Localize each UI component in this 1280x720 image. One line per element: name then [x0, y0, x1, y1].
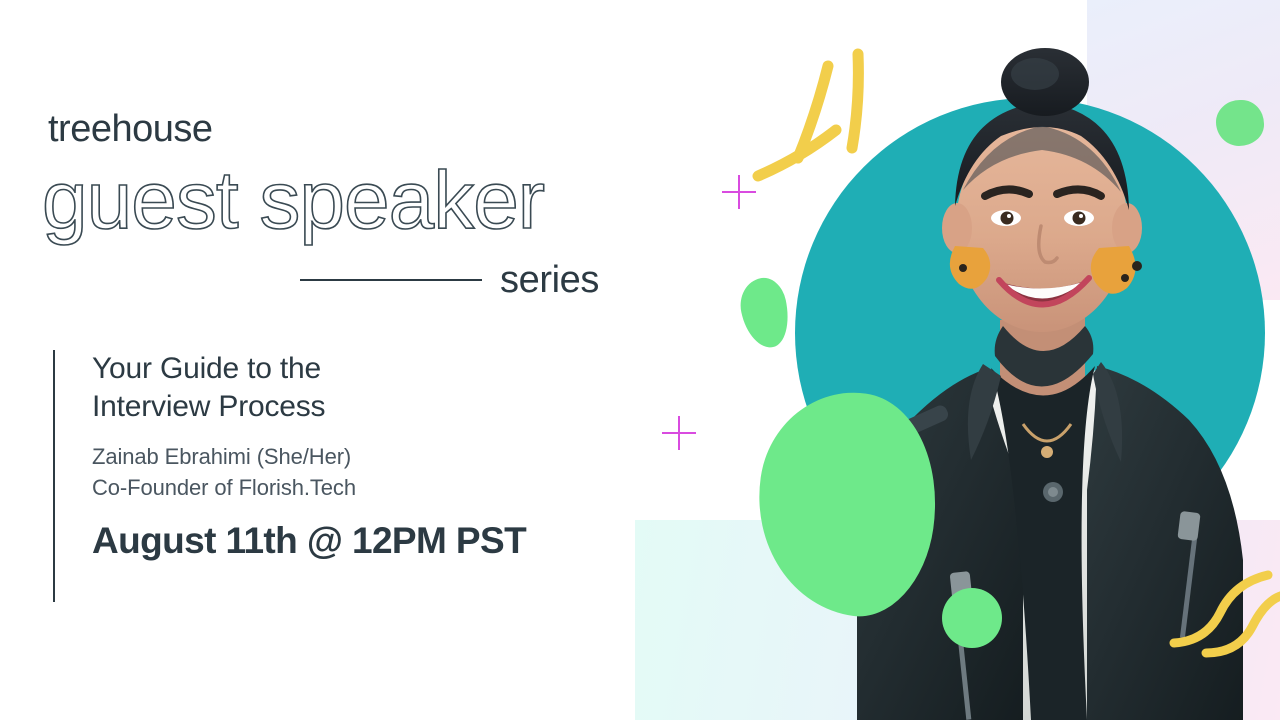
series-divider-rule [300, 279, 482, 281]
wavy-lines-icon [1160, 565, 1280, 685]
talk-title: Your Guide to the Interview Process [92, 350, 652, 427]
session-info-block: Your Guide to the Interview Process Zain… [53, 350, 653, 602]
speaker-role: Co-Founder of Florish.Tech [92, 472, 652, 503]
series-label: series [500, 259, 599, 302]
headline-guest-speaker: guest speaker [42, 160, 544, 242]
info-vertical-rule [53, 350, 55, 602]
promo-slide: treehouse guest speaker series Your Guid… [0, 0, 1280, 720]
talk-title-line-1: Your Guide to the [92, 350, 652, 388]
brand-name: treehouse [48, 108, 213, 151]
plus-mark-icon [722, 175, 756, 209]
info-body: Your Guide to the Interview Process Zain… [92, 350, 652, 562]
series-row: series [300, 252, 630, 308]
text-column: treehouse guest speaker series Your Guid… [0, 0, 680, 720]
speaker-name: Zainab Ebrahimi (She/Her) [92, 441, 652, 472]
green-dot-lower [942, 588, 1002, 648]
session-datetime: August 11th @ 12PM PST [92, 520, 652, 562]
speaker-details: Zainab Ebrahimi (She/Her) Co-Founder of … [92, 441, 652, 503]
talk-title-line-2: Interview Process [92, 388, 652, 426]
green-bean-small [735, 274, 795, 352]
